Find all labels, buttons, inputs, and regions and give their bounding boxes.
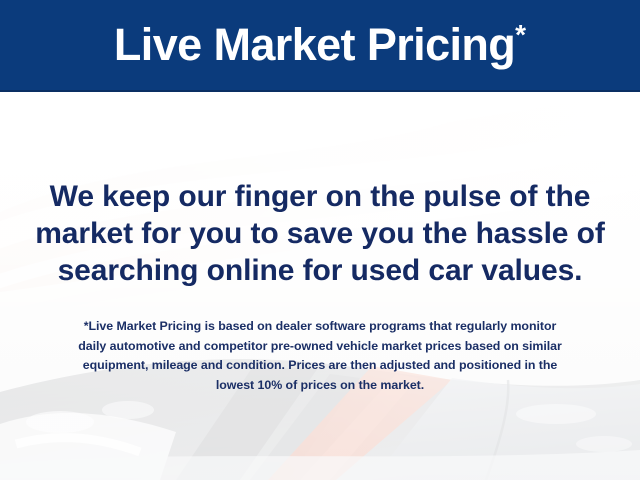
- page-title-asterisk: *: [515, 19, 526, 50]
- headline-line-2: market for you to save you the hassle of: [0, 215, 640, 252]
- live-market-pricing-banner: Live Market Pricing* We keep our finger …: [0, 0, 640, 480]
- disclaimer-line-3: equipment, mileage and condition. Prices…: [28, 356, 612, 376]
- page-title: Live Market Pricing*: [114, 21, 526, 71]
- headline-line-3: searching online for used car values.: [0, 252, 640, 289]
- page-title-text: Live Market Pricing: [114, 19, 515, 70]
- disclaimer-line-4: lowest 10% of prices on the market.: [28, 376, 612, 396]
- disclaimer-line-1: *Live Market Pricing is based on dealer …: [28, 317, 612, 337]
- disclaimer-text: *Live Market Pricing is based on dealer …: [28, 317, 612, 395]
- headline: We keep our finger on the pulse of the m…: [0, 178, 640, 289]
- header-band: Live Market Pricing*: [0, 0, 640, 92]
- headline-line-1: We keep our finger on the pulse of the: [0, 178, 640, 215]
- disclaimer-line-2: daily automotive and competitor pre-owne…: [28, 337, 612, 357]
